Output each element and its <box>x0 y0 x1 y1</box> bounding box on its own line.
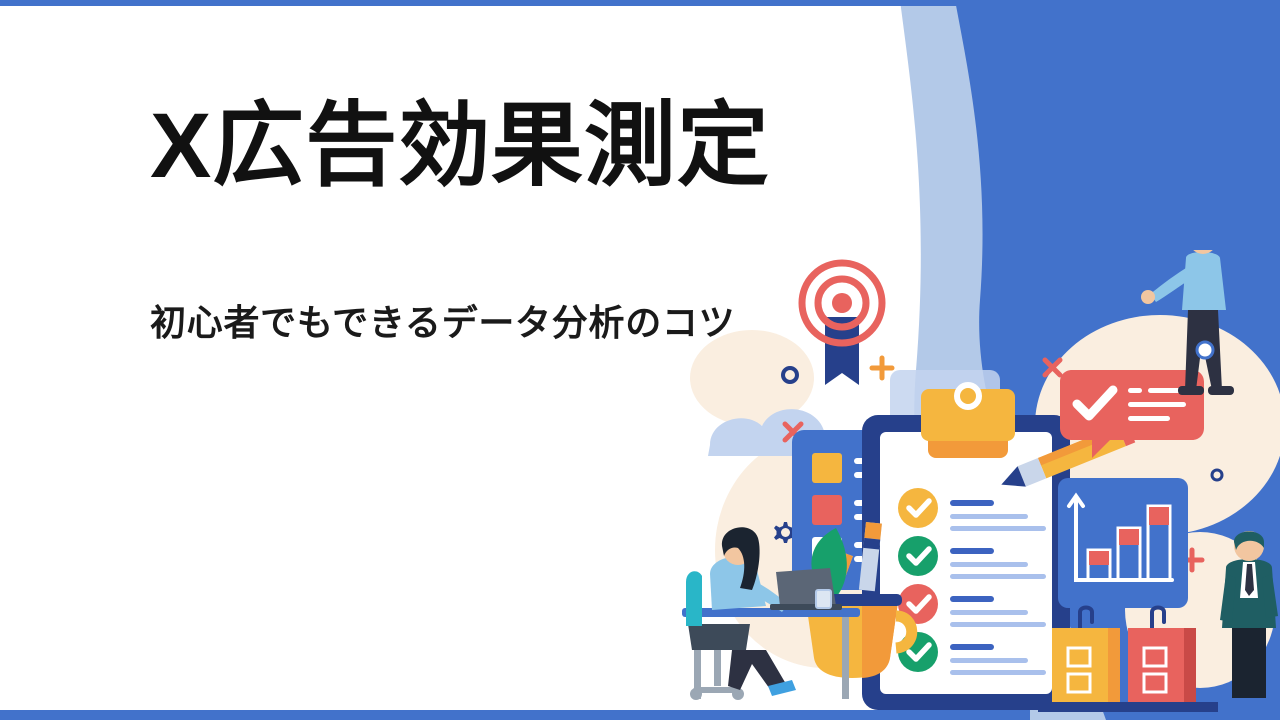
hand <box>1141 290 1155 304</box>
clipboard-clip-hole <box>957 385 979 407</box>
swatch-yellow <box>812 453 842 483</box>
check-circle <box>898 488 938 528</box>
tag-shelf <box>1038 702 1218 712</box>
shoe-left <box>1178 386 1204 395</box>
page-title: X広告効果測定 <box>150 95 950 198</box>
data-analysis-illustration <box>640 250 1280 720</box>
bar-chart-card <box>1058 478 1188 608</box>
tag-hook-yellow <box>1080 608 1092 629</box>
folder-tag-yellow-edge <box>1108 628 1120 704</box>
check-circle <box>898 536 938 576</box>
swatch-red <box>812 495 842 525</box>
desk-cup <box>816 590 831 608</box>
slide-canvas: X広告効果測定 初心者でもできるデータ分析のコツ <box>0 0 1280 720</box>
top-accent-bar <box>0 0 1200 6</box>
plus-mark-decoration <box>872 358 892 378</box>
target-center <box>832 293 852 313</box>
shirt <box>1182 252 1226 310</box>
legs <box>1232 624 1266 698</box>
shoe-right <box>1208 386 1234 395</box>
badge-dot <box>1197 342 1213 358</box>
check-circle <box>898 632 938 672</box>
folder-tag-red-edge <box>1184 628 1196 704</box>
clipboard <box>862 385 1070 710</box>
